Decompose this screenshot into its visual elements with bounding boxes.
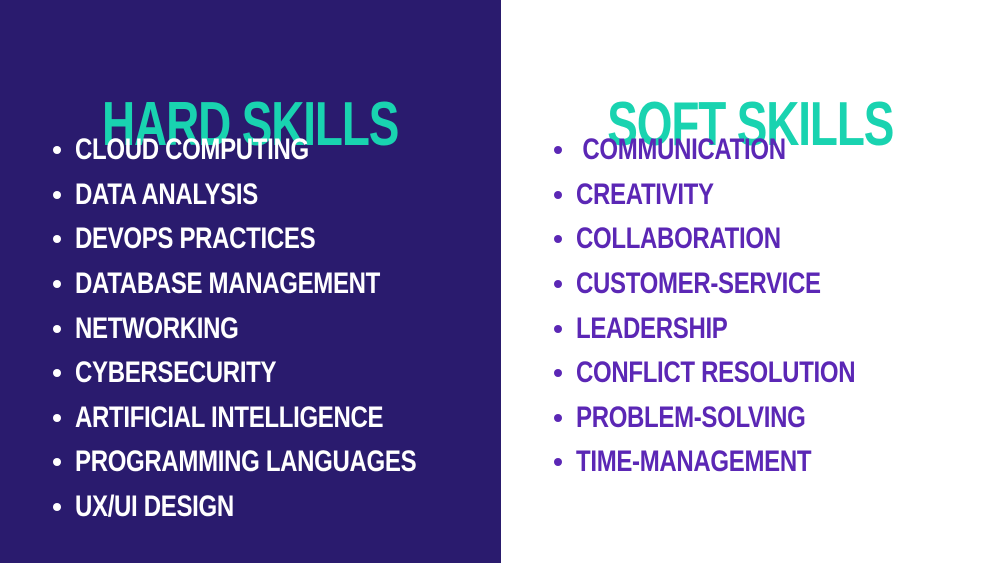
bullet-icon: [53, 414, 61, 422]
list-item-label: PROGRAMMING LANGUAGES: [75, 447, 416, 477]
list-item: ARTIFICIAL INTELLIGENCE: [53, 396, 554, 441]
list-item-label: ARTIFICIAL INTELLIGENCE: [75, 403, 383, 433]
bullet-icon: [53, 235, 61, 243]
skills-comparison-slide: HARD SKILLS CLOUD COMPUTING DATA ANALYSI…: [0, 0, 1000, 563]
list-item-label: LEADERSHIP: [576, 314, 728, 344]
list-item-label: NETWORKING: [75, 314, 238, 344]
bullet-icon: [53, 191, 61, 199]
bullet-icon: [554, 191, 562, 199]
soft-skills-panel: SOFT SKILLS COMMUNICATION CREATIVITY COL…: [501, 0, 1000, 563]
bullet-icon: [554, 369, 562, 377]
list-item-label: UX/UI DESIGN: [75, 492, 234, 522]
list-item: DEVOPS PRACTICES: [53, 217, 554, 262]
list-item-label: COLLABORATION: [576, 224, 781, 254]
bullet-icon: [53, 458, 61, 466]
list-item-label: DATA ANALYSIS: [75, 180, 258, 210]
bullet-icon: [554, 325, 562, 333]
list-item-label: CREATIVITY: [576, 180, 714, 210]
bullet-icon: [53, 325, 61, 333]
list-item: PROGRAMMING LANGUAGES: [53, 440, 554, 485]
list-item-label: TIME-MANAGEMENT: [576, 447, 811, 477]
list-item: CYBERSECURITY: [53, 351, 554, 396]
hard-skills-panel: HARD SKILLS CLOUD COMPUTING DATA ANALYSI…: [0, 0, 501, 563]
bullet-icon: [53, 369, 61, 377]
list-item: TIME-MANAGEMENT: [554, 440, 1000, 485]
bullet-icon: [53, 146, 61, 154]
list-item: DATABASE MANAGEMENT: [53, 262, 554, 307]
list-item: LEADERSHIP: [554, 306, 1000, 351]
bullet-icon: [554, 280, 562, 288]
list-item-label: PROBLEM-SOLVING: [576, 403, 805, 433]
list-item: COLLABORATION: [554, 217, 1000, 262]
list-item-label: DATABASE MANAGEMENT: [75, 269, 380, 299]
list-item: UX/UI DESIGN: [53, 485, 554, 530]
list-item: CONFLICT RESOLUTION: [554, 351, 1000, 396]
list-item-label: CUSTOMER-SERVICE: [576, 269, 821, 299]
bullet-icon: [53, 503, 61, 511]
list-item-label: CLOUD COMPUTING: [75, 135, 309, 165]
list-item: CUSTOMER-SERVICE: [554, 262, 1000, 307]
list-item: COMMUNICATION: [554, 128, 1000, 173]
bullet-icon: [554, 458, 562, 466]
list-item: CREATIVITY: [554, 173, 1000, 218]
list-item: PROBLEM-SOLVING: [554, 396, 1000, 441]
list-item-label: DEVOPS PRACTICES: [75, 224, 315, 254]
list-item: DATA ANALYSIS: [53, 173, 554, 218]
list-item-label: CYBERSECURITY: [75, 358, 276, 388]
bullet-icon: [554, 235, 562, 243]
bullet-icon: [53, 280, 61, 288]
list-item-label: COMMUNICATION: [576, 135, 786, 165]
bullet-icon: [554, 146, 562, 154]
list-item: CLOUD COMPUTING: [53, 128, 554, 173]
list-item: NETWORKING: [53, 306, 554, 351]
soft-skills-list: COMMUNICATION CREATIVITY COLLABORATION C…: [501, 128, 1000, 485]
list-item-label: CONFLICT RESOLUTION: [576, 358, 855, 388]
bullet-icon: [554, 414, 562, 422]
hard-skills-list: CLOUD COMPUTING DATA ANALYSIS DEVOPS PRA…: [0, 128, 554, 529]
